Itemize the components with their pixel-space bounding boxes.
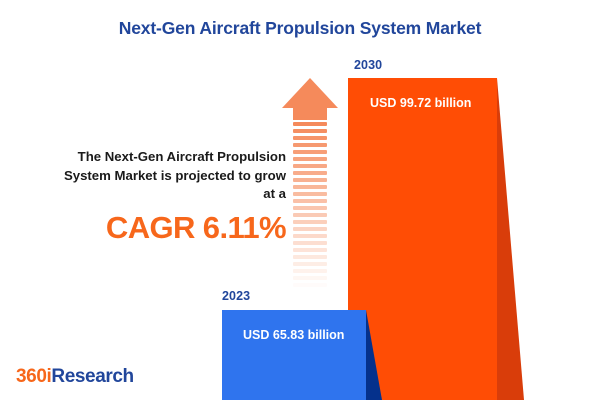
arrow-stripe [293,164,327,168]
arrow-stripe [293,241,327,245]
bar-2030-side-face [497,78,524,400]
arrow-stripe [293,213,327,217]
arrow-stripe [293,129,327,133]
infographic-canvas: Next-Gen Aircraft Propulsion System Mark… [0,0,600,400]
arrow-stripe [293,262,327,266]
arrow-stripe [293,276,327,280]
logo-text-research: Research [51,366,133,387]
arrow-stripe [293,227,327,231]
arrow-stripe [293,150,327,154]
bar-2030-value-label: USD 99.72 billion [370,96,471,110]
page-title: Next-Gen Aircraft Propulsion System Mark… [0,18,600,39]
bar-2023-value-label: USD 65.83 billion [243,328,344,342]
arrow-shaft-stripes [293,122,327,290]
arrow-stripe [293,178,327,182]
bar-2023-side-face [366,310,382,400]
arrow-stripe [293,185,327,189]
statement-line-1: The Next-Gen Aircraft Propulsion [14,148,286,167]
arrow-stripe [293,199,327,203]
statement-line-2: System Market is projected to grow [14,167,286,186]
arrow-stripe [293,283,327,287]
arrow-stripe [293,255,327,259]
arrow-stripe [293,248,327,252]
arrow-stripe [293,220,327,224]
bar-2030-year-label: 2030 [354,58,382,72]
arrow-stripe [293,192,327,196]
statement-line-3: at a [14,185,286,204]
bar-2023-year-label: 2023 [222,289,250,303]
arrow-stripe [293,234,327,238]
arrow-stripe [293,157,327,161]
arrow-head-shape [282,78,338,108]
growth-statement: The Next-Gen Aircraft Propulsion System … [14,148,286,246]
arrow-stripe [293,143,327,147]
arrow-neck-shape [293,108,327,120]
brand-logo: 360iResearch [16,366,134,388]
arrow-stripe [293,269,327,273]
arrow-stripe [293,136,327,140]
arrow-stripe [293,171,327,175]
cagr-value: CAGR 6.11% [14,210,286,246]
arrow-stripe [293,122,327,126]
arrow-stripe [293,206,327,210]
growth-arrow-icon [282,78,338,290]
bar-2023 [222,310,382,400]
logo-text-360: 360 [16,366,47,387]
bar-2023-front-face [222,310,366,400]
